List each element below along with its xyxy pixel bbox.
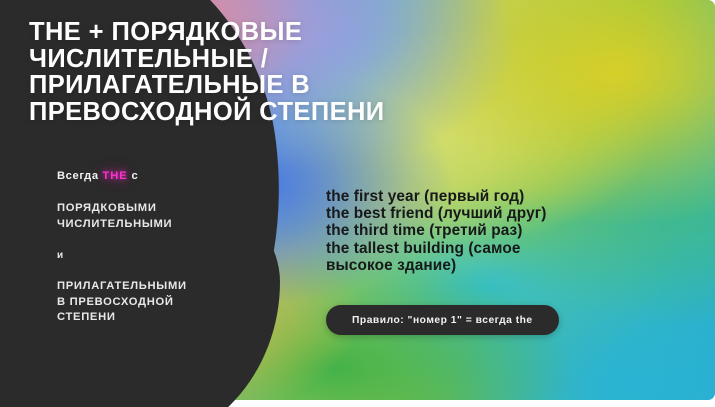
conjunction-label: и [57, 250, 287, 261]
rule-badge-label: Правило: "номер 1" = всегда the [352, 315, 533, 326]
ordinal-numerals-label: ПОРЯДКОВЫМИ ЧИСЛИТЕЛЬНЫМИ [57, 201, 287, 232]
rule-badge: Правило: "номер 1" = всегда the [326, 305, 559, 335]
examples-list: the first year (первый год) the best fri… [326, 188, 671, 274]
the-highlight: THE [102, 170, 127, 182]
always-suffix: с [128, 170, 139, 182]
page-title: THE + ПОРЯДКОВЫЕ ЧИСЛИТЕЛЬНЫЕ / ПРИЛАГАТ… [29, 19, 569, 125]
superlative-adjectives-label: ПРИЛАГАТЕЛЬНЫМИ В ПРЕВОСХОДНОЙ СТЕПЕНИ [57, 279, 287, 326]
slide-canvas: THE + ПОРЯДКОВЫЕ ЧИСЛИТЕЛЬНЫЕ / ПРИЛАГАТ… [0, 0, 715, 407]
always-prefix: Всегда [57, 170, 102, 182]
left-rule-panel: Всегда THE с ПОРЯДКОВЫМИ ЧИСЛИТЕЛЬНЫМИ и… [57, 170, 287, 326]
always-the-line: Всегда THE с [57, 170, 287, 182]
